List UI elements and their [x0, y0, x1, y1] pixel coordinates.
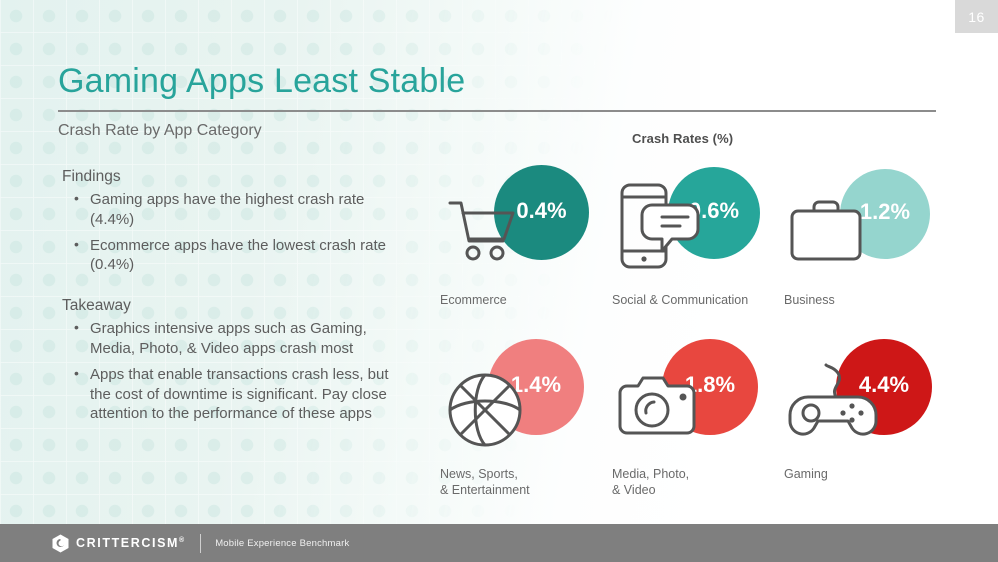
bubble-value: 1.2%	[860, 199, 910, 225]
cell-art: 0.4%	[440, 165, 615, 290]
caption-line: Ecommerce	[440, 293, 625, 309]
caption-line: News, Sports,	[440, 467, 625, 483]
crash-rate-bubble-chart: 0.4% Ecommerce 0.6%	[440, 165, 960, 505]
findings-heading: Findings	[62, 168, 392, 186]
findings-list: Gaming apps have the highest crash rate …	[72, 190, 392, 275]
phone-chat-icon	[616, 181, 702, 273]
footer-divider	[200, 534, 201, 553]
chart-cell-news: 1.4% News, Sports, & Entertainment	[440, 339, 615, 504]
crittercism-cube-icon	[52, 534, 69, 553]
basketball-icon	[446, 371, 524, 449]
caption-line: Business	[784, 293, 969, 309]
footer-bar: CRITTERCISM® Mobile Experience Benchmark	[0, 524, 998, 562]
cell-caption: Ecommerce	[440, 293, 625, 309]
chart-cell-media: 1.8% Media, Photo, & Video	[612, 339, 787, 504]
list-item: Graphics intensive apps such as Gaming, …	[72, 319, 392, 359]
cell-art: 0.6%	[612, 165, 787, 290]
chart-cell-gaming: 4.4% Gaming	[784, 339, 959, 504]
cell-art: 1.4%	[440, 339, 615, 464]
camera-icon	[616, 375, 698, 441]
caption-line: Social & Communication	[612, 293, 797, 309]
page-title: Gaming Apps Least Stable	[58, 62, 465, 101]
list-item: Apps that enable transactions crash less…	[72, 365, 392, 424]
cell-caption: Media, Photo, & Video	[612, 467, 797, 498]
briefcase-icon	[788, 197, 864, 263]
page-number-badge: 16	[955, 0, 998, 33]
slide-canvas: 16 Gaming Apps Least Stable Crash Rate b…	[0, 0, 998, 562]
cell-art: 4.4%	[784, 339, 959, 464]
gamepad-icon	[786, 363, 882, 443]
cell-caption: Gaming	[784, 467, 969, 483]
brand-logo: CRITTERCISM® Mobile Experience Benchmark	[52, 534, 349, 553]
cell-caption: Business	[784, 293, 969, 309]
list-item: Ecommerce apps have the lowest crash rat…	[72, 236, 392, 276]
takeaway-heading: Takeaway	[62, 297, 392, 315]
brand-trademark: ®	[179, 537, 184, 544]
cell-caption: News, Sports, & Entertainment	[440, 467, 625, 498]
chart-cell-social: 0.6% Social & Communication	[612, 165, 787, 330]
bubble-value: 0.4%	[516, 198, 566, 224]
brand-name: CRITTERCISM®	[76, 536, 184, 550]
takeaway-list: Graphics intensive apps such as Gaming, …	[72, 319, 392, 424]
page-subtitle: Crash Rate by App Category	[58, 122, 262, 140]
chart-cell-ecommerce: 0.4% Ecommerce	[440, 165, 615, 330]
findings-takeaway-column: Findings Gaming apps have the highest cr…	[62, 168, 392, 430]
cell-art: 1.2%	[784, 165, 959, 290]
list-item: Gaming apps have the highest crash rate …	[72, 190, 392, 230]
chart-cell-business: 1.2% Business	[784, 165, 959, 330]
cell-caption: Social & Communication	[612, 293, 797, 309]
footer-tagline: Mobile Experience Benchmark	[215, 538, 349, 549]
title-divider	[58, 110, 936, 112]
chart-title: Crash Rates (%)	[632, 131, 733, 146]
shopping-cart-icon	[446, 193, 518, 265]
cell-art: 1.8%	[612, 339, 787, 464]
caption-line: Media, Photo,	[612, 467, 797, 483]
caption-line: & Entertainment	[440, 483, 625, 499]
caption-line: Gaming	[784, 467, 969, 483]
caption-line: & Video	[612, 483, 797, 499]
